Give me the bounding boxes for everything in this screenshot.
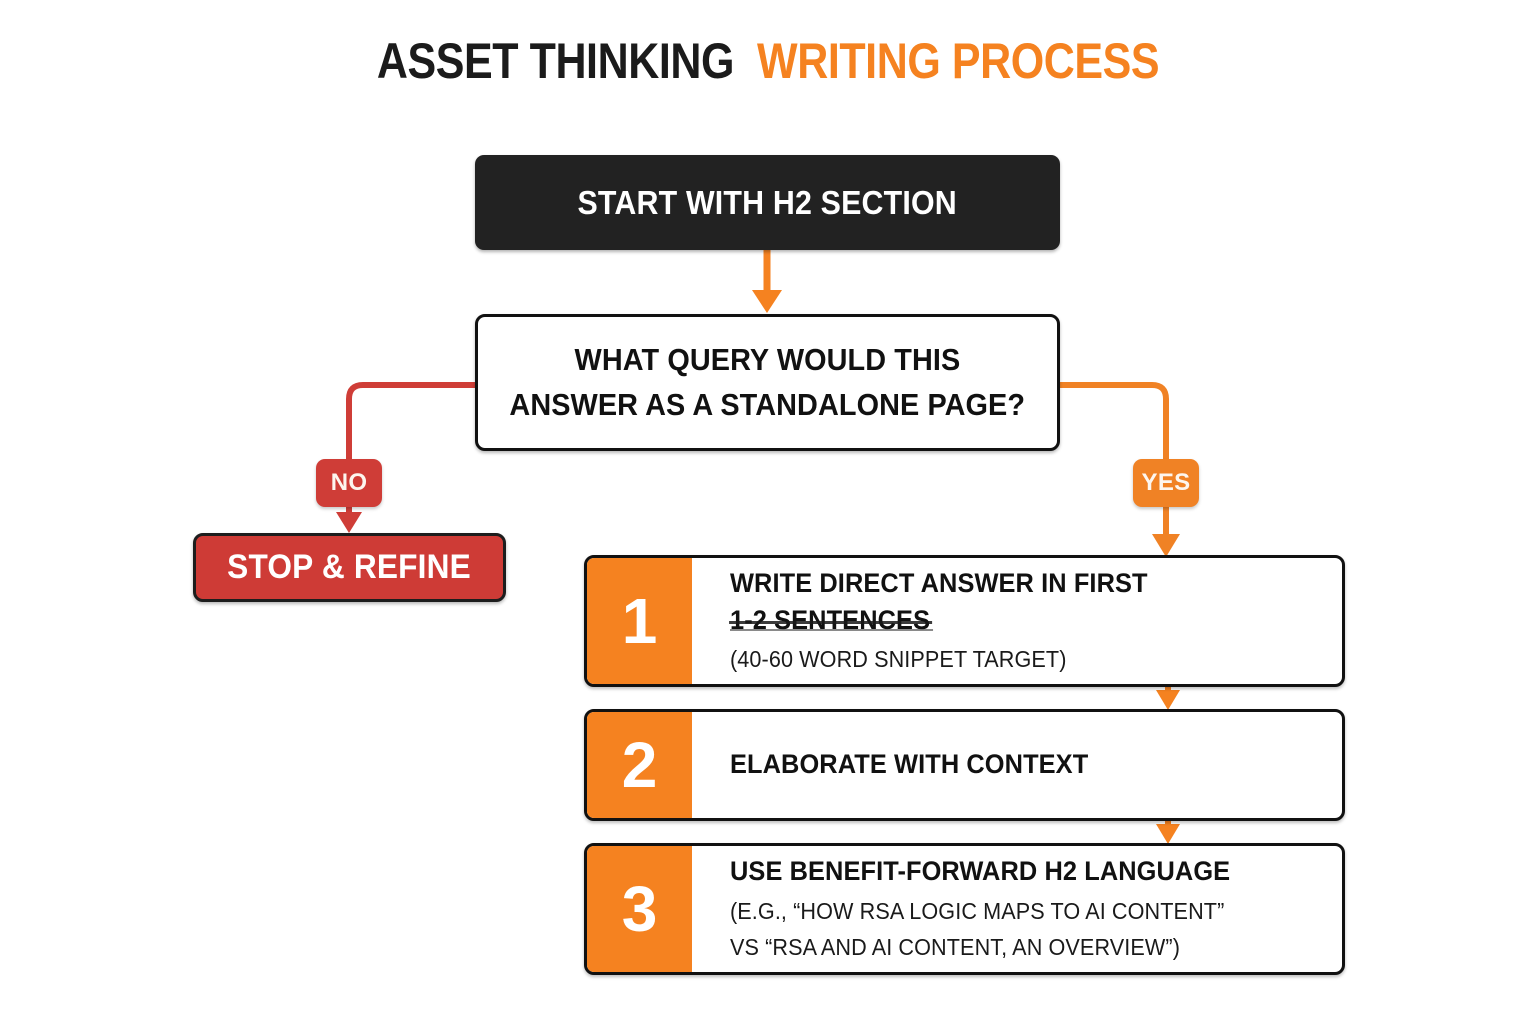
step-body-2: ELABORATE WITH CONTEXT bbox=[692, 712, 1342, 818]
node-decision[interactable]: WHAT QUERY WOULD THIS ANSWER AS A STANDA… bbox=[475, 314, 1060, 451]
step-title-1-line-2-text: 1-2 SENTENCES bbox=[730, 602, 930, 639]
step-body-3: USE BENEFIT-FORWARD H2 LANGUAGE (E.G., “… bbox=[692, 846, 1342, 972]
page-title: ASSET THINKING WRITING PROCESS bbox=[108, 36, 1429, 86]
step-number-1: 1 bbox=[587, 558, 692, 684]
connector-step1-to-step2 bbox=[1156, 687, 1180, 710]
connector-step2-to-step3 bbox=[1156, 821, 1180, 844]
branch-badge-no[interactable]: NO bbox=[316, 459, 382, 507]
step-body-1: WRITE DIRECT ANSWER IN FIRST 1-2 SENTENC… bbox=[692, 558, 1342, 684]
step-subtitle-1: (40-60 WORD SNIPPET TARGET) bbox=[730, 642, 1290, 677]
step-number-2: 2 bbox=[587, 712, 692, 818]
branch-badge-yes[interactable]: YES bbox=[1133, 459, 1199, 507]
connector-no-to-stop bbox=[336, 507, 362, 533]
step-card-2[interactable]: 2 ELABORATE WITH CONTEXT bbox=[584, 709, 1345, 821]
connector-yes-to-step1 bbox=[1152, 507, 1180, 557]
connector-start-to-decision bbox=[752, 250, 782, 313]
step-title-2-line-1: ELABORATE WITH CONTEXT bbox=[730, 746, 1290, 783]
step-card-1[interactable]: 1 WRITE DIRECT ANSWER IN FIRST 1-2 SENTE… bbox=[584, 555, 1345, 687]
node-stop-refine[interactable]: STOP & REFINE bbox=[193, 533, 506, 602]
step-subtitle-3-line-2: VS “RSA AND AI CONTENT, AN OVERVIEW”) bbox=[730, 930, 1290, 965]
connector-decision-to-yes bbox=[1060, 385, 1166, 459]
branch-badge-no-label: NO bbox=[331, 469, 368, 497]
branch-badge-yes-label: YES bbox=[1142, 469, 1191, 497]
node-start[interactable]: START WITH H2 SECTION bbox=[475, 155, 1060, 250]
title-primary: ASSET THINKING bbox=[377, 33, 734, 89]
connector-decision-to-no bbox=[349, 385, 475, 459]
node-decision-line-1: WHAT QUERY WOULD THIS bbox=[575, 338, 961, 383]
step-card-3[interactable]: 3 USE BENEFIT-FORWARD H2 LANGUAGE (E.G.,… bbox=[584, 843, 1345, 975]
step-title-1-line-2: 1-2 SENTENCES bbox=[730, 602, 1290, 639]
step-number-3: 3 bbox=[587, 846, 692, 972]
step-title-1-line-1: WRITE DIRECT ANSWER IN FIRST bbox=[730, 565, 1290, 602]
title-accent: WRITING PROCESS bbox=[757, 33, 1159, 89]
step-title-3-line-1: USE BENEFIT-FORWARD H2 LANGUAGE bbox=[730, 853, 1290, 890]
node-decision-line-2: ANSWER AS A STANDALONE PAGE? bbox=[510, 383, 1026, 428]
node-stop-refine-label: STOP & REFINE bbox=[228, 548, 472, 587]
flowchart-canvas: ASSET THINKING WRITING PROCESS bbox=[0, 0, 1536, 1024]
step-subtitle-3-line-1: (E.G., “HOW RSA LOGIC MAPS TO AI CONTENT… bbox=[730, 894, 1290, 929]
node-start-label: START WITH H2 SECTION bbox=[578, 184, 957, 222]
